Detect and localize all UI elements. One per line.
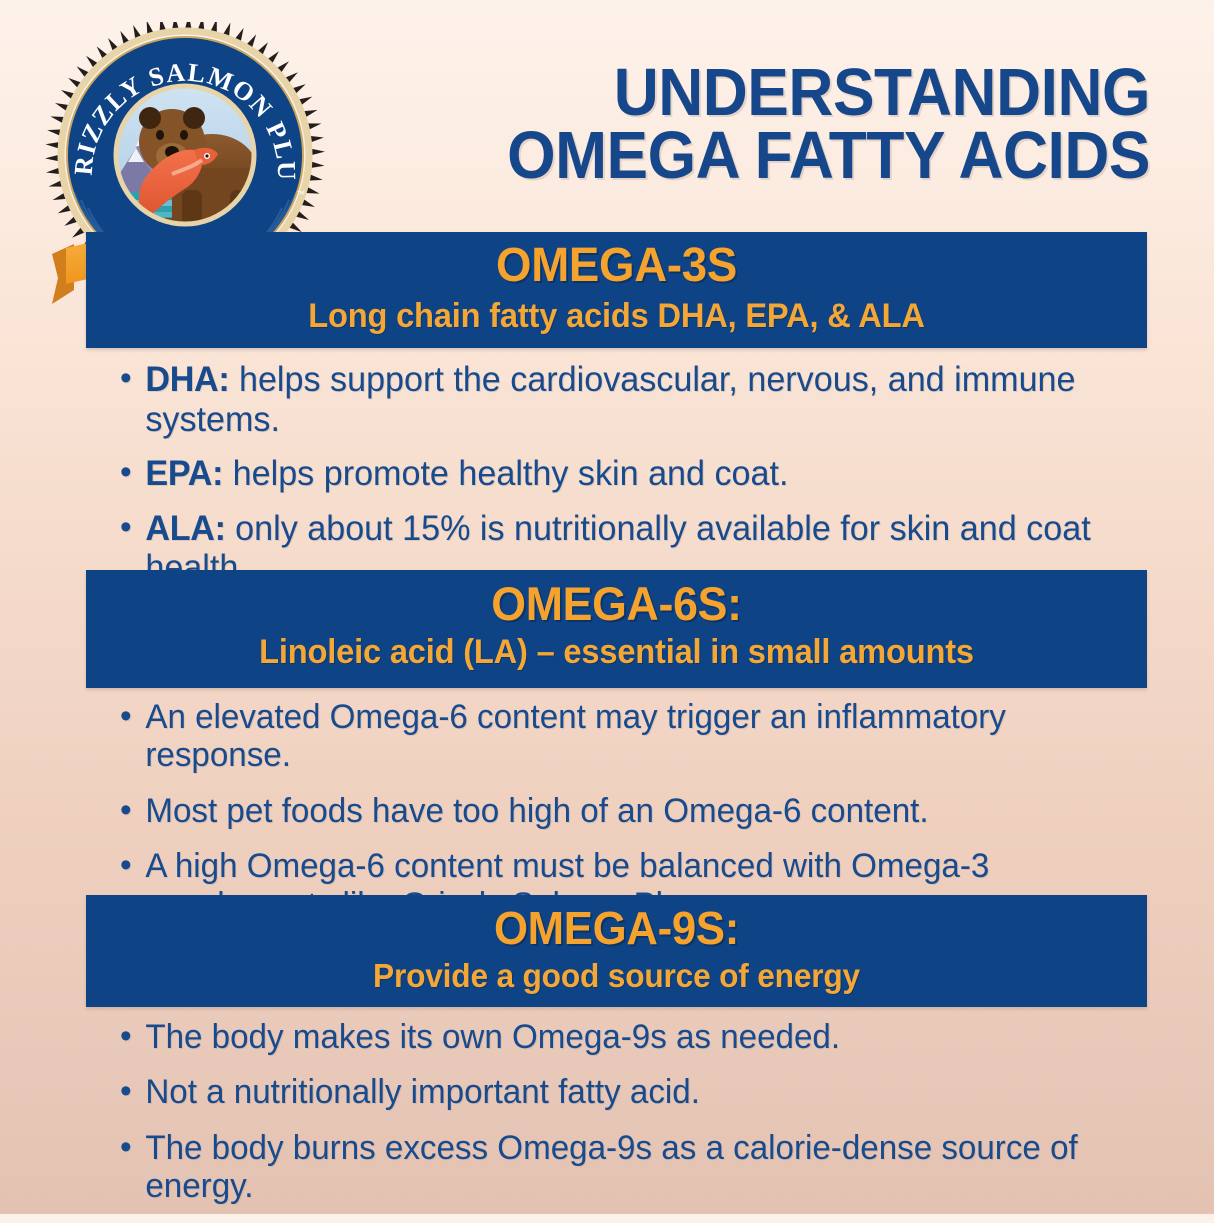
bullet-list-omega3: DHA: helps support the cardiovascular, n… — [120, 360, 1160, 603]
bullet-text: The body burns excess Omega-9s as a calo… — [145, 1129, 1077, 1205]
banner-subtitle-omega6: Linoleic acid (LA) – essential in small … — [107, 631, 1126, 674]
list-item: The body burns excess Omega-9s as a calo… — [120, 1129, 1134, 1206]
page-title-line-2: OMEGA FATTY ACIDS — [395, 125, 1150, 188]
section-banner-omega9: OMEGA-9S: Provide a good source of energ… — [86, 895, 1147, 1007]
list-item: DHA: helps support the cardiovascular, n… — [120, 360, 1134, 439]
bullet-text: Most pet foods have too high of an Omega… — [145, 792, 928, 830]
banner-title-omega6: OMEGA-6S: — [113, 576, 1121, 631]
banner-subtitle-omega3: Long chain fatty acids DHA, EPA, & ALA — [107, 295, 1126, 338]
infographic-page: GRIZZLY SALMON PLUS ™ — [0, 0, 1214, 1214]
bullet-text: Not a nutritionally important fatty acid… — [145, 1073, 700, 1111]
banner-title-omega9: OMEGA-9S: — [113, 901, 1121, 955]
bullet-list-omega9: The body makes its own Omega-9s as neede… — [120, 1018, 1160, 1223]
bullet-text: helps promote healthy skin and coat. — [223, 454, 788, 493]
page-title: UNDERSTANDING OMEGA FATTY ACIDS — [338, 62, 1150, 188]
banner-title-omega3: OMEGA-3S — [113, 238, 1121, 295]
list-item: EPA: helps promote healthy skin and coat… — [120, 454, 1134, 494]
bullet-text: helps support the cardiovascular, nervou… — [145, 360, 1075, 439]
bullet-text: The body makes its own Omega-9s as neede… — [145, 1018, 840, 1056]
bullet-label: EPA: — [145, 454, 223, 493]
bullet-label: ALA: — [145, 509, 225, 548]
page-title-line-1: UNDERSTANDING — [395, 62, 1150, 125]
list-item: Not a nutritionally important fatty acid… — [120, 1073, 1134, 1111]
list-item: The body makes its own Omega-9s as neede… — [120, 1018, 1134, 1056]
bullet-label: DHA: — [145, 360, 229, 399]
section-banner-omega3: OMEGA-3S Long chain fatty acids DHA, EPA… — [86, 232, 1147, 348]
section-banner-omega6: OMEGA-6S: Linoleic acid (LA) – essential… — [86, 570, 1147, 688]
logo-trademark-icon: ™ — [296, 189, 305, 199]
list-item: Most pet foods have too high of an Omega… — [120, 792, 1134, 830]
banner-subtitle-omega9: Provide a good source of energy — [107, 955, 1126, 996]
bullet-text: An elevated Omega-6 content may trigger … — [145, 698, 1005, 774]
list-item: An elevated Omega-6 content may trigger … — [120, 698, 1134, 775]
